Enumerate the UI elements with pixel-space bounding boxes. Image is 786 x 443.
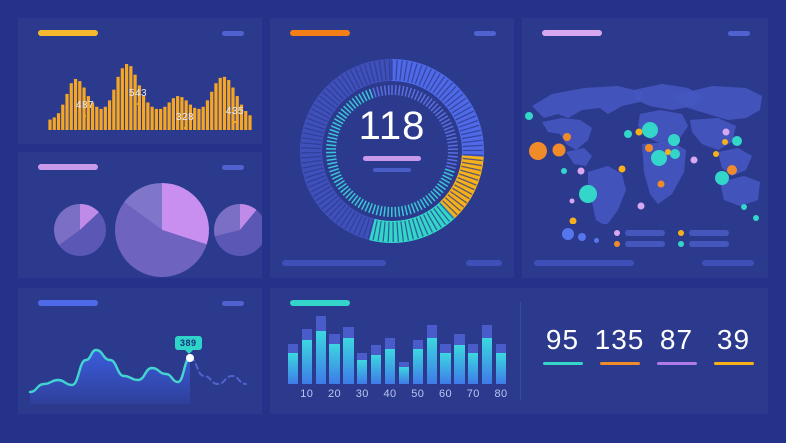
bar-column[interactable] — [399, 362, 409, 384]
bar-column[interactable] — [329, 334, 339, 384]
donut-gauge-panel: 118 — [270, 18, 514, 278]
bar-column[interactable] — [343, 327, 353, 384]
map-legend-color-dot — [678, 230, 684, 236]
bar-segment-base — [329, 344, 339, 384]
comb-chart-canvas: 487543328435 — [18, 18, 262, 144]
bar-column[interactable] — [385, 338, 395, 384]
footer-bar — [282, 260, 386, 266]
bar-segment-base — [427, 338, 437, 384]
bar-axis-tick: 60 — [439, 388, 452, 400]
bar-segment-top — [385, 338, 395, 349]
line-trend-panel: 389 — [18, 288, 262, 414]
kpi-underline — [600, 362, 640, 365]
panel-title-bar-bars — [290, 300, 350, 306]
bar-column[interactable] — [413, 340, 423, 384]
map-legend — [522, 18, 768, 278]
bar-column[interactable] — [316, 316, 326, 384]
dashboard-root: 487543328435 118 389 102030405060 — [0, 0, 786, 443]
bar-column[interactable] — [371, 345, 381, 384]
line-marker-point[interactable] — [186, 354, 194, 362]
bar-column[interactable] — [288, 344, 298, 384]
panel-divider — [520, 302, 521, 400]
footer-bar — [466, 260, 502, 266]
map-legend-color-dot — [678, 241, 684, 247]
bar-column[interactable] — [454, 334, 464, 384]
bar-segment-top — [454, 334, 464, 345]
area-peak-label: 435 — [226, 106, 244, 117]
panel-title-bar-pies — [38, 164, 98, 170]
bar-segment-base — [385, 349, 395, 384]
map-legend-label-bar — [625, 230, 665, 236]
bar-segment-base — [468, 353, 478, 384]
area-peak-dot — [234, 121, 236, 123]
bar-segment-base — [496, 353, 506, 384]
bar-column[interactable] — [440, 344, 450, 384]
map-legend-label-bar — [689, 241, 729, 247]
panel-menu-chip-pies[interactable] — [222, 165, 244, 170]
bar-segment-top — [357, 353, 367, 360]
bar-axis-tick: 80 — [494, 388, 507, 400]
bar-segment-top — [316, 316, 326, 331]
bar-segment-top — [329, 334, 339, 343]
bar-axis-tick: 10 — [300, 388, 313, 400]
line-value-tooltip: 389 — [175, 336, 202, 350]
area-peak-dot — [184, 127, 186, 129]
kpi-value: 95 — [534, 326, 591, 354]
bar-axis-tick: 70 — [467, 388, 480, 400]
kpi-value: 87 — [648, 326, 705, 354]
bar-segment-base — [288, 353, 298, 384]
bar-segment-base — [413, 349, 423, 384]
bar-segment-base — [357, 360, 367, 384]
bar-segment-base — [316, 331, 326, 384]
bar-segment-base — [454, 345, 464, 384]
map-legend-label-bar — [689, 230, 729, 236]
map-legend-item[interactable] — [614, 241, 665, 247]
kpi-3: 87 — [648, 326, 705, 365]
bar-segment-base — [482, 338, 492, 384]
kpi-4: 39 — [705, 326, 762, 365]
map-legend-color-dot — [614, 230, 620, 236]
map-legend-size-dot — [578, 233, 586, 241]
area-comb-chart-panel: 487543328435 — [18, 18, 262, 144]
bar-chart-x-axis: 1020304050607080 — [286, 388, 508, 406]
bar-segment-top — [343, 327, 353, 338]
bar-axis-tick: 30 — [356, 388, 369, 400]
bar-chart-canvas — [286, 312, 508, 384]
map-legend-item[interactable] — [678, 241, 729, 247]
map-legend-item[interactable] — [614, 230, 665, 236]
donut-subtitle-bar-secondary — [373, 168, 411, 172]
bar-segment-base — [440, 353, 450, 384]
kpi-underline — [714, 362, 754, 365]
area-peak-label: 328 — [176, 112, 194, 123]
area-peak-dot — [137, 103, 139, 105]
bar-segment-top — [496, 344, 506, 353]
kpi-1: 95 — [534, 326, 591, 365]
bar-axis-tick: 50 — [411, 388, 424, 400]
pie-charts-canvas — [18, 152, 262, 283]
map-legend-label-bar — [625, 241, 665, 247]
map-legend-item[interactable] — [678, 230, 729, 236]
bar-segment-top — [371, 345, 381, 354]
bar-segment-top — [482, 325, 492, 338]
area-peak-label: 487 — [76, 100, 94, 111]
donut-subtitle-bar-primary — [363, 156, 421, 161]
bar-column[interactable] — [357, 353, 367, 384]
kpi-underline — [543, 362, 583, 365]
bar-segment-top — [427, 325, 437, 338]
map-legend-color-dot — [614, 241, 620, 247]
bar-segment-base — [302, 340, 312, 384]
bar-segment-base — [399, 367, 409, 384]
bar-axis-tick: 20 — [328, 388, 341, 400]
donut-chart-canvas — [270, 36, 514, 266]
kpi-2: 135 — [591, 326, 648, 365]
bar-kpi-panel: 1020304050607080 951358739 — [270, 288, 768, 414]
bar-column[interactable] — [482, 325, 492, 384]
area-peak-label: 543 — [129, 88, 147, 99]
bar-column[interactable] — [427, 325, 437, 384]
area-peak-dot — [84, 115, 86, 117]
bar-column[interactable] — [496, 344, 506, 384]
line-chart-canvas — [18, 288, 262, 419]
map-legend-size-dot — [562, 228, 574, 240]
kpi-underline — [657, 362, 697, 365]
footer-bar — [702, 260, 754, 266]
donut-center-value: 118 — [270, 104, 514, 149]
map-legend-size-dot — [594, 238, 599, 243]
world-map-panel — [522, 18, 768, 278]
pie-group-panel — [18, 152, 262, 278]
bar-axis-tick: 40 — [383, 388, 396, 400]
bar-segment-top — [302, 329, 312, 340]
bar-column[interactable] — [302, 329, 312, 384]
bar-segment-base — [343, 338, 353, 384]
footer-bar — [534, 260, 634, 266]
bar-segment-base — [371, 355, 381, 384]
kpi-group: 951358739 — [534, 326, 762, 396]
bar-segment-top — [468, 344, 478, 353]
bar-column[interactable] — [468, 344, 478, 384]
kpi-value: 39 — [705, 326, 762, 354]
bar-segment-top — [440, 344, 450, 353]
bar-segment-top — [413, 340, 423, 349]
bar-segment-top — [288, 344, 298, 353]
kpi-value: 135 — [591, 326, 648, 354]
